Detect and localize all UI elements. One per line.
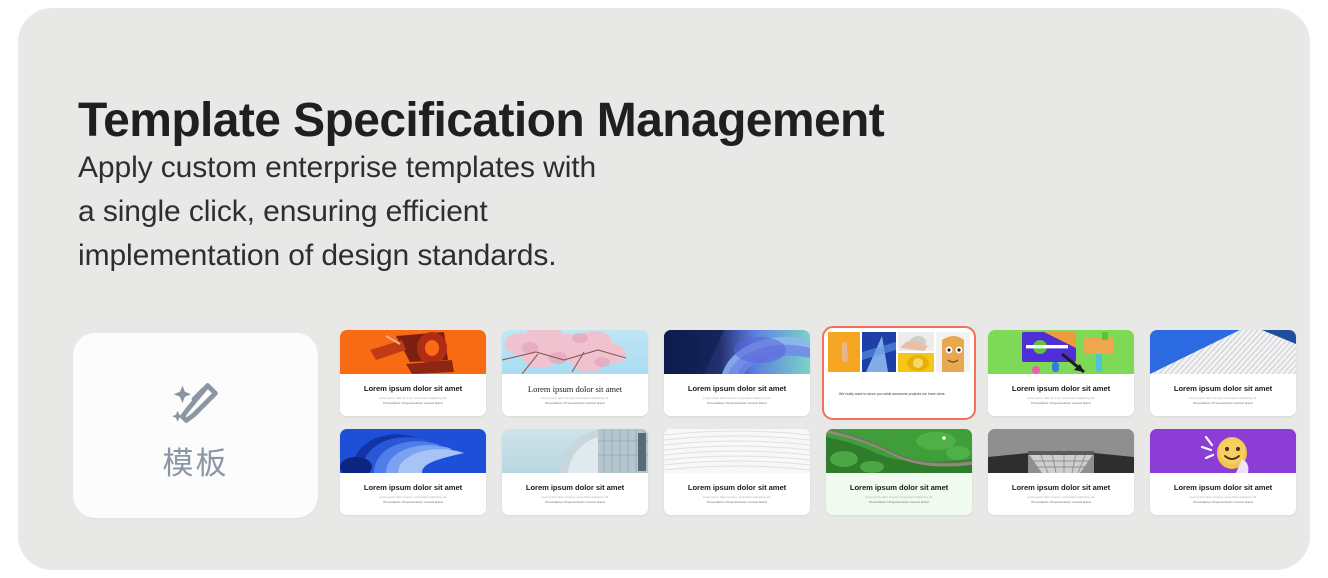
subtitle-line-1: Apply custom enterprise templates with <box>78 146 838 190</box>
thumbnail-image-11 <box>988 429 1134 473</box>
thumbnail-sub2-1: Presentation / Proposal deck / custom br… <box>383 402 442 405</box>
thumbnail-sub1-6: Lorem ipsum dolor sit amet, consectetur … <box>1189 397 1257 400</box>
thumbnail-sub1-8: Lorem ipsum dolor sit amet, consectetur … <box>541 496 609 499</box>
template-thumbnail-5[interactable]: Lorem ipsum dolor sit amet Lorem ipsum d… <box>988 330 1134 416</box>
template-thumbnail-7[interactable]: Lorem ipsum dolor sit amet Lorem ipsum d… <box>340 429 486 515</box>
thumbnail-image-1 <box>340 330 486 374</box>
thumbnail-sub2-9: Presentation / Proposal deck / custom br… <box>707 501 766 504</box>
thumbnail-body-4: We really want to show you what awesome … <box>832 392 972 398</box>
thumbnail-sub1-1: Lorem ipsum dolor sit amet, consectetur … <box>379 397 447 400</box>
template-thumbnail-11[interactable]: Lorem ipsum dolor sit amet Lorem ipsum d… <box>988 429 1134 515</box>
thumbnail-caption-4: We really want to show you what awesome … <box>826 374 972 416</box>
thumbnail-image-12 <box>1150 429 1296 473</box>
template-thumbnail-9[interactable]: Lorem ipsum dolor sit amet Lorem ipsum d… <box>664 429 810 515</box>
thumbnail-title-7: Lorem ipsum dolor sit amet <box>364 484 462 492</box>
template-thumbnail-2[interactable]: Lorem ipsum dolor sit amet Lorem ipsum d… <box>502 330 648 416</box>
thumbnail-title-9: Lorem ipsum dolor sit amet <box>688 484 786 492</box>
page-title: Template Specification Management <box>78 95 1198 148</box>
thumbnail-image-4 <box>826 330 972 374</box>
thumbnail-caption-6: Lorem ipsum dolor sit amet Lorem ipsum d… <box>1150 374 1296 416</box>
subtitle-line-3: implementation of design standards. <box>78 234 838 278</box>
subtitle-line-2: a single click, ensuring efficient <box>78 190 838 234</box>
thumbnail-sub2-7: Presentation / Proposal deck / custom br… <box>383 501 442 504</box>
thumbnail-sub2-2: Presentation / Proposal deck / custom br… <box>545 402 604 405</box>
thumbnail-image-3 <box>664 330 810 374</box>
thumbnail-caption-12: Lorem ipsum dolor sit amet Lorem ipsum d… <box>1150 473 1296 515</box>
thumbnail-image-10 <box>826 429 972 473</box>
template-thumbnail-10[interactable]: Lorem ipsum dolor sit amet Lorem ipsum d… <box>826 429 972 515</box>
thumbnail-sub2-6: Presentation / Proposal deck / custom br… <box>1193 402 1252 405</box>
thumbnail-title-5: Lorem ipsum dolor sit amet <box>1012 385 1110 393</box>
modern-building-art <box>502 429 648 473</box>
thumbnail-sub1-9: Lorem ipsum dolor sit amet, consectetur … <box>703 496 771 499</box>
thumbnail-image-5 <box>988 330 1134 374</box>
template-thumbnail-4-selected[interactable]: We really want to show you what awesome … <box>826 330 972 416</box>
screenshot-root: Template Specification Management Apply … <box>0 0 1328 578</box>
thumbnail-title-3: Lorem ipsum dolor sit amet <box>688 385 786 393</box>
thumbnail-sub1-2: Lorem ipsum dolor sit amet, consectetur … <box>541 397 609 400</box>
thumbnail-sub2-11: Presentation / Proposal deck / custom br… <box>1031 501 1090 504</box>
template-thumbnail-6[interactable]: Lorem ipsum dolor sit amet Lorem ipsum d… <box>1150 330 1296 416</box>
navy-ribbon-art <box>664 330 810 374</box>
cherry-blossom-art <box>502 330 648 374</box>
thumbnail-caption-10: Lorem ipsum dolor sit amet Lorem ipsum d… <box>826 473 972 515</box>
thumbnail-caption-8: Lorem ipsum dolor sit amet Lorem ipsum d… <box>502 473 648 515</box>
thumbnail-title-10: Lorem ipsum dolor sit amet <box>850 484 948 492</box>
gray-architecture-perspective-art <box>988 429 1134 473</box>
thumbnail-sub1-5: Lorem ipsum dolor sit amet, consectetur … <box>1027 397 1095 400</box>
template-thumbnail-8[interactable]: Lorem ipsum dolor sit amet Lorem ipsum d… <box>502 429 648 515</box>
thumbnail-image-7 <box>340 429 486 473</box>
thumbnail-image-9 <box>664 429 810 473</box>
thumbnail-sub1-11: Lorem ipsum dolor sit amet, consectetur … <box>1027 496 1095 499</box>
white-pleated-texture-art <box>664 429 810 473</box>
blue-fan-swirl-art <box>340 429 486 473</box>
thumbnail-title-6: Lorem ipsum dolor sit amet <box>1174 385 1272 393</box>
thumbnail-image-6 <box>1150 330 1296 374</box>
thumbnail-image-2 <box>502 330 648 374</box>
thumbnail-title-12: Lorem ipsum dolor sit amet <box>1174 484 1272 492</box>
thumbnail-title-8: Lorem ipsum dolor sit amet <box>526 484 624 492</box>
thumbnail-sub2-3: Presentation / Proposal deck / custom br… <box>707 402 766 405</box>
thumbnail-sub2-5: Presentation / Proposal deck / custom br… <box>1031 402 1090 405</box>
thumbnail-caption-5: Lorem ipsum dolor sit amet Lorem ipsum d… <box>988 374 1134 416</box>
thumbnail-caption-1: Lorem ipsum dolor sit amet Lorem ipsum d… <box>340 374 486 416</box>
thumbnail-sub2-12: Presentation / Proposal deck / custom br… <box>1193 501 1252 504</box>
thumbnail-sub2-10: Presentation / Proposal deck / custom br… <box>869 501 928 504</box>
feature-panel: Template Specification Management Apply … <box>18 8 1310 570</box>
template-entry-label: 模板 <box>163 448 229 479</box>
template-thumbnail-1[interactable]: Lorem ipsum dolor sit amet Lorem ipsum d… <box>340 330 486 416</box>
green-flat-illustration-art <box>988 330 1134 374</box>
page-subtitle: Apply custom enterprise templates with a… <box>78 146 838 278</box>
magic-wand-sparkle-icon <box>165 372 227 434</box>
thumbnail-title-11: Lorem ipsum dolor sit amet <box>1012 484 1110 492</box>
aerial-landscape-art <box>826 429 972 473</box>
thumbnail-title-2: Lorem ipsum dolor sit amet <box>528 385 622 394</box>
template-thumbnail-3[interactable]: Lorem ipsum dolor sit amet Lorem ipsum d… <box>664 330 810 416</box>
thumbnail-sub2-8: Presentation / Proposal deck / custom br… <box>545 501 604 504</box>
template-thumbnail-12[interactable]: Lorem ipsum dolor sit amet Lorem ipsum d… <box>1150 429 1296 515</box>
template-entry-card[interactable]: 模板 <box>73 333 318 518</box>
thumbnail-sub1-7: Lorem ipsum dolor sit amet, consectetur … <box>379 496 447 499</box>
thumbnail-image-8 <box>502 429 648 473</box>
thumbnail-sub1-12: Lorem ipsum dolor sit amet, consectetur … <box>1189 496 1257 499</box>
blue-diagonal-architecture-art <box>1150 330 1296 374</box>
template-gallery-grid: Lorem ipsum dolor sit amet Lorem ipsum d… <box>340 330 1296 515</box>
thumbnail-sub1-3: Lorem ipsum dolor sit amet, consectetur … <box>703 397 771 400</box>
purple-smiley-character-art <box>1150 429 1296 473</box>
thumbnail-caption-7: Lorem ipsum dolor sit amet Lorem ipsum d… <box>340 473 486 515</box>
thumbnail-caption-2: Lorem ipsum dolor sit amet Lorem ipsum d… <box>502 374 648 416</box>
thumbnail-caption-3: Lorem ipsum dolor sit amet Lorem ipsum d… <box>664 374 810 416</box>
photo-collage-art <box>826 330 972 374</box>
orange-megaphone-art <box>340 330 486 374</box>
thumbnail-caption-9: Lorem ipsum dolor sit amet Lorem ipsum d… <box>664 473 810 515</box>
thumbnail-sub1-10: Lorem ipsum dolor sit amet, consectetur … <box>865 496 933 499</box>
thumbnail-title-1: Lorem ipsum dolor sit amet <box>364 385 462 393</box>
thumbnail-caption-11: Lorem ipsum dolor sit amet Lorem ipsum d… <box>988 473 1134 515</box>
